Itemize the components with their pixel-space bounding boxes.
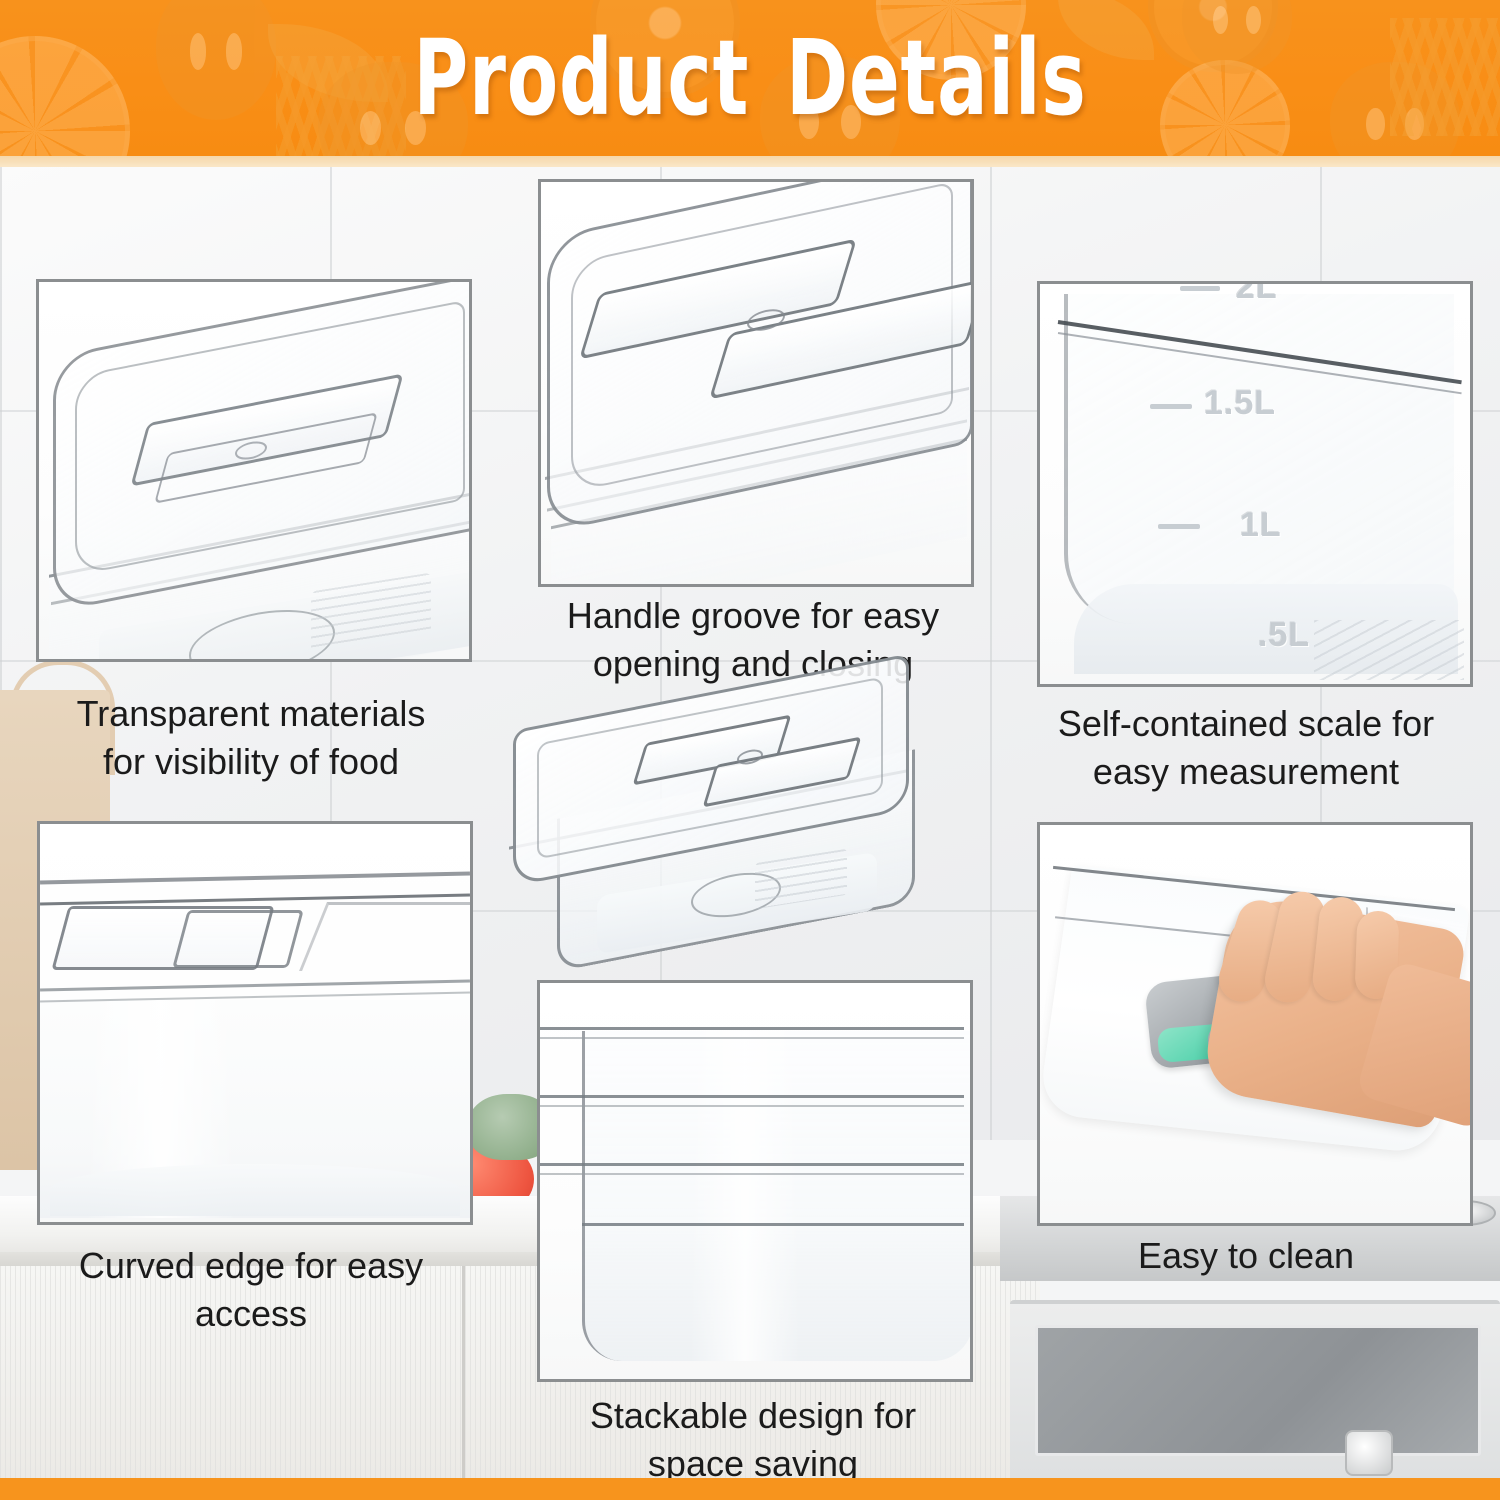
stack-rim-2-shadow [540, 1105, 964, 1107]
caption-line-1: Curved edge for easy [16, 1242, 486, 1290]
container-bottom [50, 1164, 460, 1216]
page-title: Product Details [150, 0, 1350, 156]
caption-line-1: Handle groove for easy [510, 592, 996, 640]
oven-knob [1345, 1430, 1393, 1476]
header-banner: Product Details [0, 0, 1500, 156]
caption-line-1: Easy to clean [1006, 1232, 1486, 1280]
caption-stackable-design: Stackable design for space saving [508, 1392, 998, 1487]
caption-line-2: for visibility of food [16, 738, 486, 786]
photo-transparent-materials [39, 282, 469, 659]
product-details-infographic: Product Details Transparent materials fo… [0, 0, 1500, 1500]
caption-line-2: access [16, 1290, 486, 1338]
caption-easy-to-clean: Easy to clean [1006, 1232, 1486, 1280]
photo-handle-groove [541, 182, 971, 584]
embossed-text-block [1314, 620, 1464, 680]
caption-transparent-materials: Transparent materials for visibility of … [16, 690, 486, 785]
scale-label-1l: 1L [1240, 506, 1282, 545]
caption-self-contained-scale: Self-contained scale for easy measuremen… [1006, 700, 1486, 795]
title-word-product: Product [413, 17, 749, 139]
panel-stackable-design [537, 980, 973, 1382]
rim-line-third [40, 979, 470, 991]
panel-handle-groove [538, 179, 974, 587]
scale-tick [1158, 524, 1200, 529]
panel-self-contained-scale: 2L 1.5L 1L .5L [1037, 281, 1473, 687]
stack-rim-1-shadow [540, 1037, 964, 1039]
stack-rim-3-shadow [540, 1173, 964, 1175]
scale-label-half-l: .5L [1258, 616, 1310, 655]
caption-handle-groove: Handle groove for easy opening and closi… [510, 592, 996, 687]
photo-curved-edge [40, 824, 470, 1222]
footer-accent-bar [0, 1478, 1500, 1500]
highlight-reflection [690, 1031, 800, 1361]
stack-rim-4 [582, 1223, 964, 1226]
photo-self-contained-scale: 2L 1.5L 1L .5L [1040, 284, 1470, 684]
side-handle-groove-inner [172, 910, 304, 968]
stack-rim-1 [540, 1027, 964, 1030]
caption-line-1: Stackable design for [508, 1392, 998, 1440]
panel-curved-edge [37, 821, 473, 1225]
curved-corner-edge [299, 902, 473, 971]
title-word-details: Details [786, 17, 1087, 139]
scale-label-1-5l: 1.5L [1204, 384, 1276, 423]
scale-tick [1180, 286, 1220, 291]
photo-easy-to-clean [1040, 825, 1470, 1223]
panel-transparent-materials [36, 279, 472, 662]
stack-rim-3 [540, 1163, 964, 1166]
caption-line-2: opening and closing [510, 640, 996, 688]
oven-door-glass [1035, 1325, 1481, 1456]
caption-line-2: easy measurement [1006, 748, 1486, 796]
photo-stackable-design [540, 983, 970, 1379]
hero-product-image [505, 688, 975, 960]
stack-rim-2 [540, 1095, 964, 1098]
scale-label-2l: 2L [1236, 281, 1278, 307]
pineapple-leaves-icon [1390, 18, 1500, 136]
panel-easy-to-clean [1037, 822, 1473, 1226]
caption-curved-edge: Curved edge for easy access [16, 1242, 486, 1337]
caption-line-1: Self-contained scale for [1006, 700, 1486, 748]
rim-line-top [40, 871, 470, 884]
scale-tick [1150, 404, 1192, 409]
caption-line-1: Transparent materials [16, 690, 486, 738]
header-underline [0, 156, 1500, 167]
orange-slice-icon [0, 36, 130, 156]
